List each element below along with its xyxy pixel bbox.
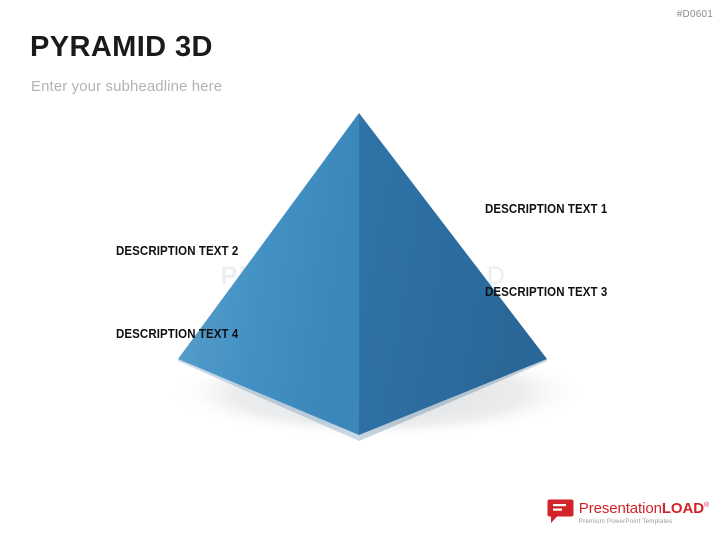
logo-wordmark: PresentationLOAD® xyxy=(579,501,709,516)
logo-text: PresentationLOAD® Premium PowerPoint Tem… xyxy=(579,497,709,525)
speech-bubble-icon xyxy=(547,499,574,524)
label-description-text-1[interactable]: DESCRIPTION TEXT 1 xyxy=(485,202,607,216)
slide: #D0601 PYRAMID 3D Enter your subheadline… xyxy=(0,0,727,545)
logo-wordmark-bold: LOAD xyxy=(662,500,704,517)
label-description-text-3[interactable]: DESCRIPTION TEXT 3 xyxy=(485,285,607,299)
page-title: PYRAMID 3D xyxy=(30,32,213,62)
presentationload-logo[interactable]: PresentationLOAD® Premium PowerPoint Tem… xyxy=(547,497,709,525)
logo-tagline: Premium PowerPoint Templates xyxy=(579,519,709,525)
label-description-text-2[interactable]: DESCRIPTION TEXT 2 xyxy=(116,244,238,258)
logo-wordmark-light: Presentation xyxy=(579,500,662,517)
label-description-text-4[interactable]: DESCRIPTION TEXT 4 xyxy=(116,327,238,341)
document-code: #D0601 xyxy=(677,9,713,20)
page-subtitle: Enter your subheadline here xyxy=(31,78,222,95)
logo-trademark: ® xyxy=(704,502,709,509)
